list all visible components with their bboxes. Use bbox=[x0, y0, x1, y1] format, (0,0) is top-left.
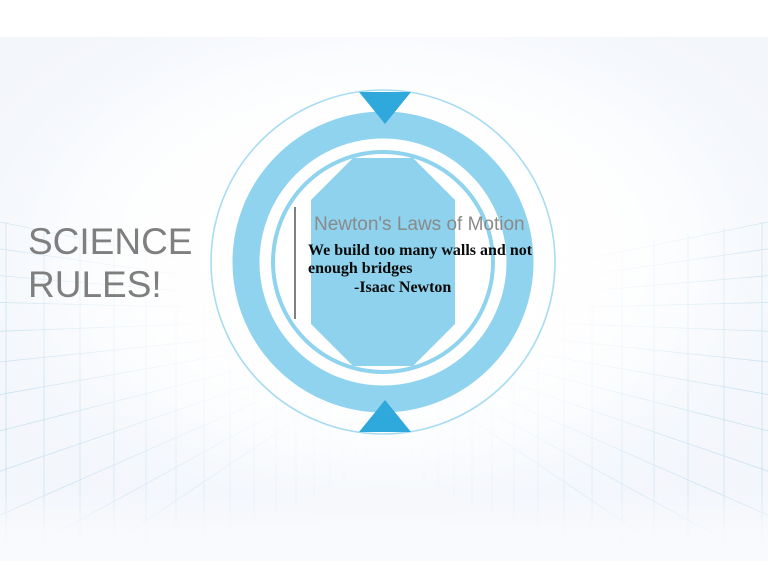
quote-attribution: -Isaac Newton bbox=[308, 278, 576, 297]
page-title: SCIENCE RULES! bbox=[28, 220, 218, 306]
content-heading: Newton's Laws of Motion bbox=[314, 213, 594, 236]
content-body: We build too many walls and not enough b… bbox=[308, 242, 576, 297]
accent-bar bbox=[294, 207, 296, 319]
quote-text: We build too many walls and not enough b… bbox=[308, 242, 576, 278]
slide-top-white-band bbox=[0, 0, 768, 37]
slide-canvas: SCIENCE RULES! Newton's Laws of Motion W… bbox=[0, 0, 768, 561]
